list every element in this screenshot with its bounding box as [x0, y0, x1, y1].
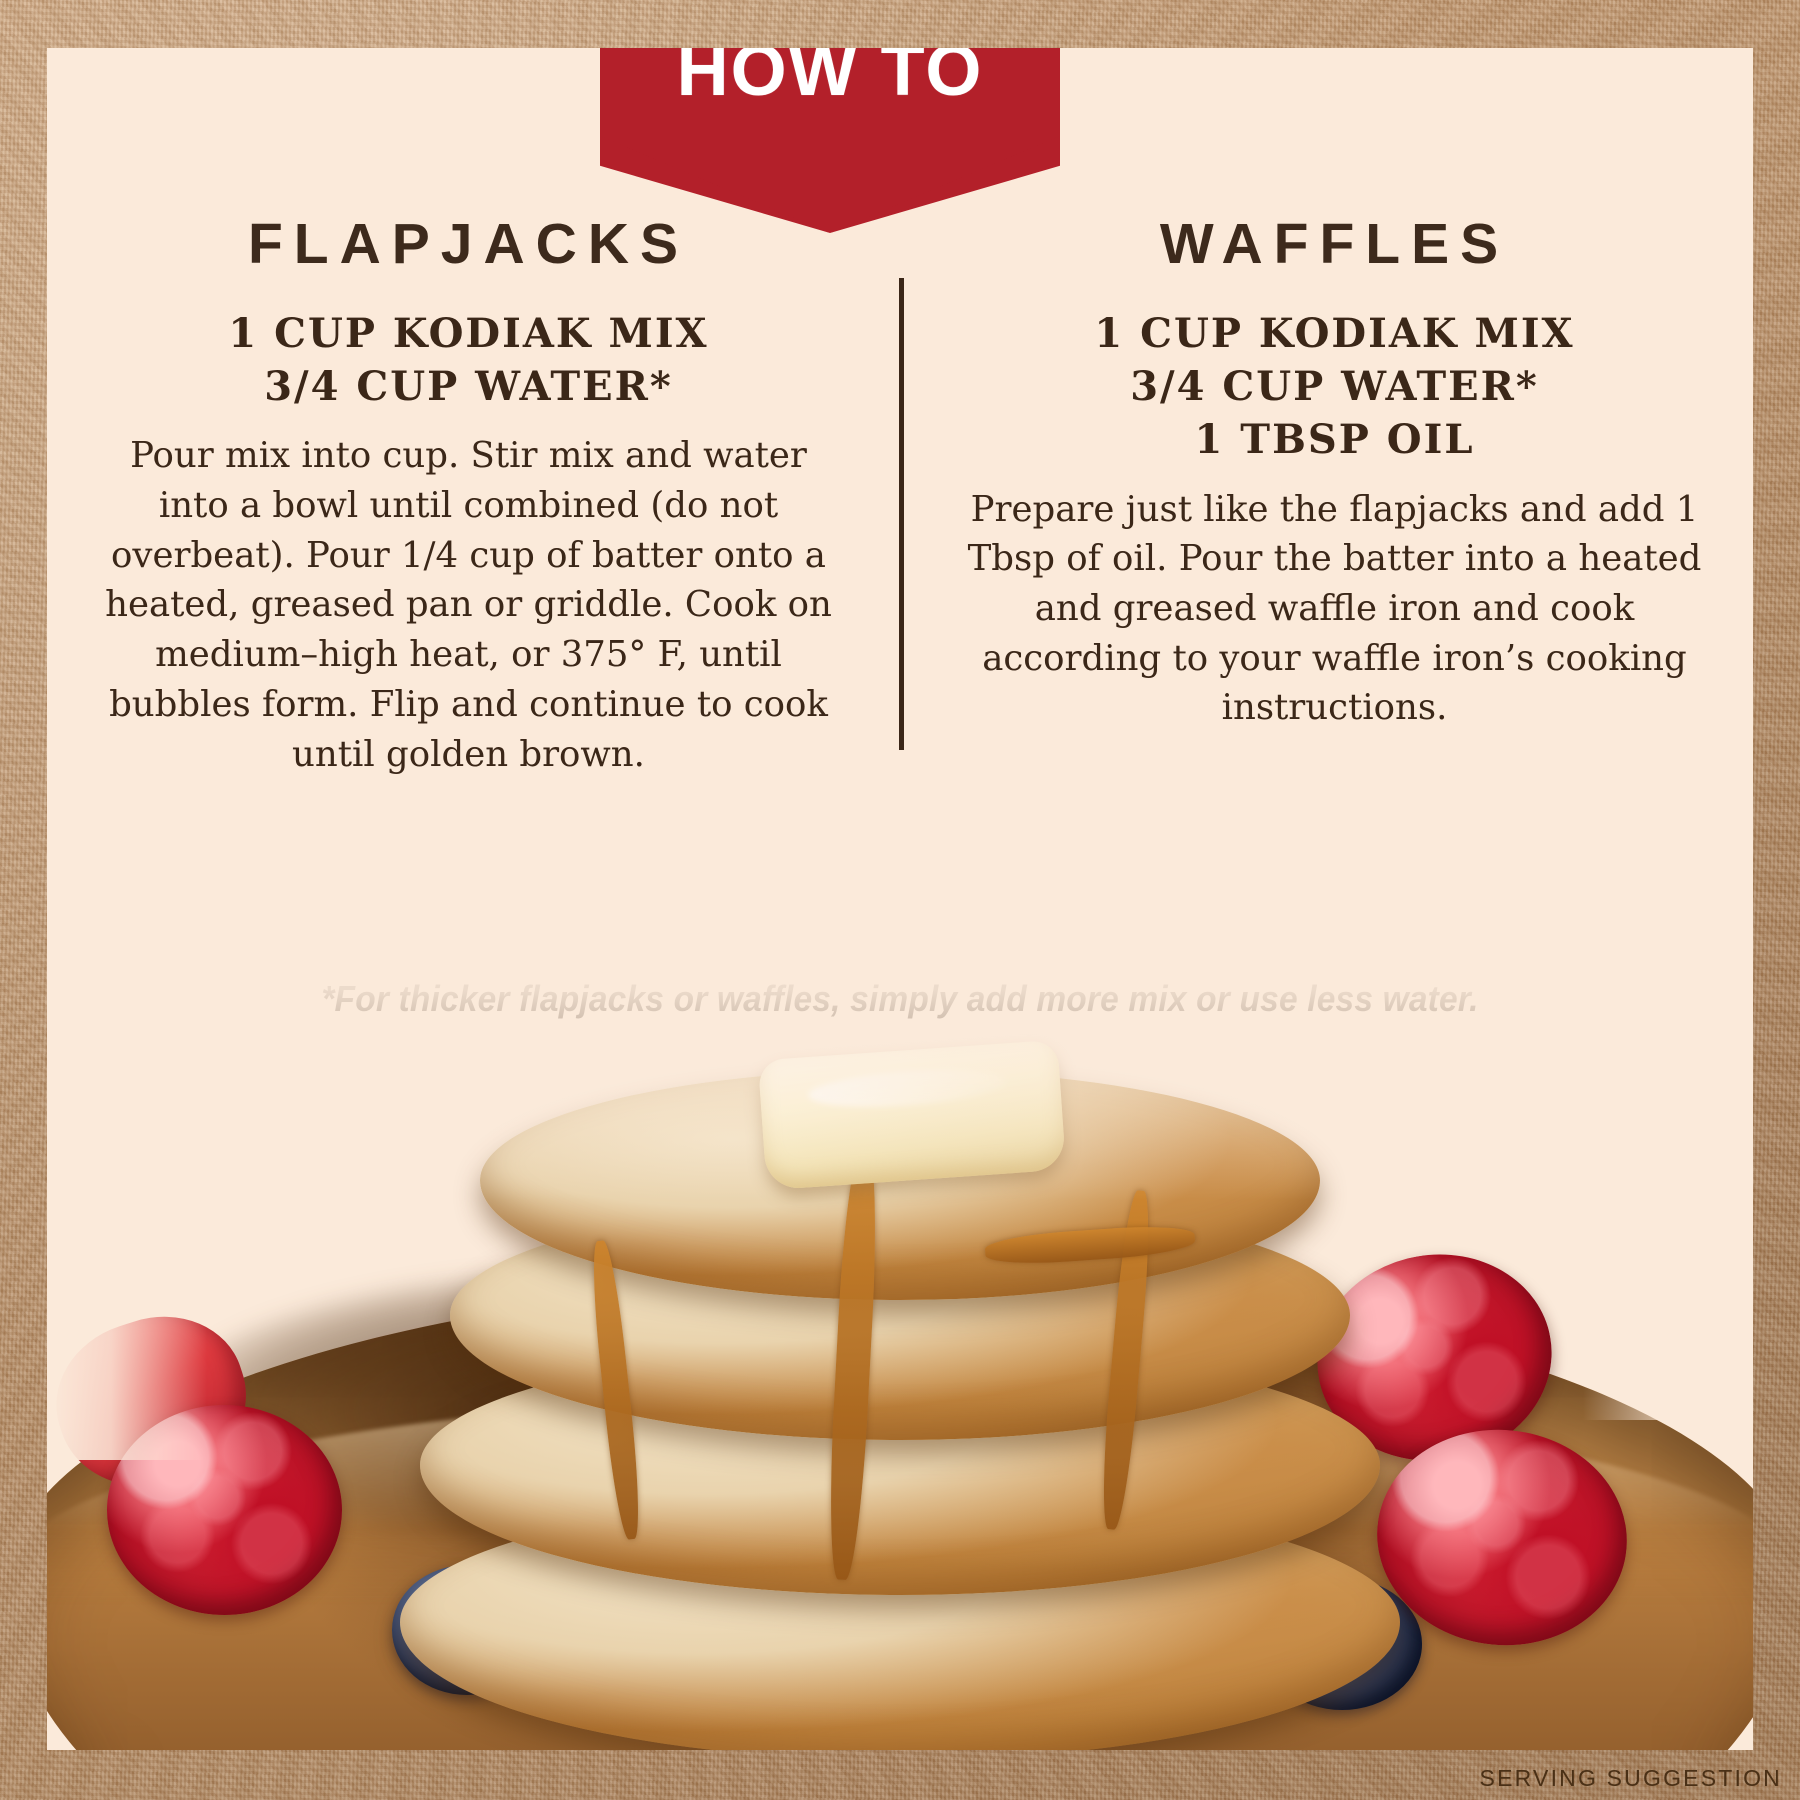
pancake-photo — [47, 900, 1753, 1750]
ingredient-line: 1 CUP KODIAK MIX — [960, 307, 1709, 360]
column-waffles: WAFFLES 1 CUP KODIAK MIX 3/4 CUP WATER* … — [900, 216, 1753, 779]
waffles-title: WAFFLES — [960, 216, 1709, 273]
ingredient-line: 3/4 CUP WATER* — [960, 360, 1709, 413]
poster-root: HOW TO FLAPJACKS 1 CUP KODIAK MIX 3/4 CU… — [0, 0, 1800, 1800]
pancake-stack — [370, 1060, 1430, 1750]
waffles-ingredients: 1 CUP KODIAK MIX 3/4 CUP WATER* 1 TBSP O… — [960, 307, 1709, 467]
ingredient-line: 1 TBSP OIL — [960, 413, 1709, 466]
waffles-instructions: Prepare just like the flapjacks and add … — [960, 485, 1709, 733]
flapjacks-ingredients: 1 CUP KODIAK MIX 3/4 CUP WATER* — [97, 307, 840, 413]
column-divider — [899, 278, 904, 750]
raspberry — [107, 1405, 342, 1615]
cream-panel: HOW TO FLAPJACKS 1 CUP KODIAK MIX 3/4 CU… — [47, 48, 1753, 1750]
butter-gloss — [807, 1064, 1007, 1112]
flapjacks-instructions: Pour mix into cup. Stir mix and water in… — [97, 431, 840, 779]
photo-right-fade — [1583, 900, 1753, 1420]
column-flapjacks: FLAPJACKS 1 CUP KODIAK MIX 3/4 CUP WATER… — [47, 216, 900, 779]
ingredient-line: 3/4 CUP WATER* — [97, 360, 840, 413]
ingredient-line: 1 CUP KODIAK MIX — [97, 307, 840, 360]
banner-label: HOW TO — [600, 48, 1060, 118]
butter-pat — [758, 1040, 1066, 1191]
how-to-banner: HOW TO — [600, 48, 1060, 233]
serving-suggestion-caption: SERVING SUGGESTION — [1480, 1765, 1782, 1792]
